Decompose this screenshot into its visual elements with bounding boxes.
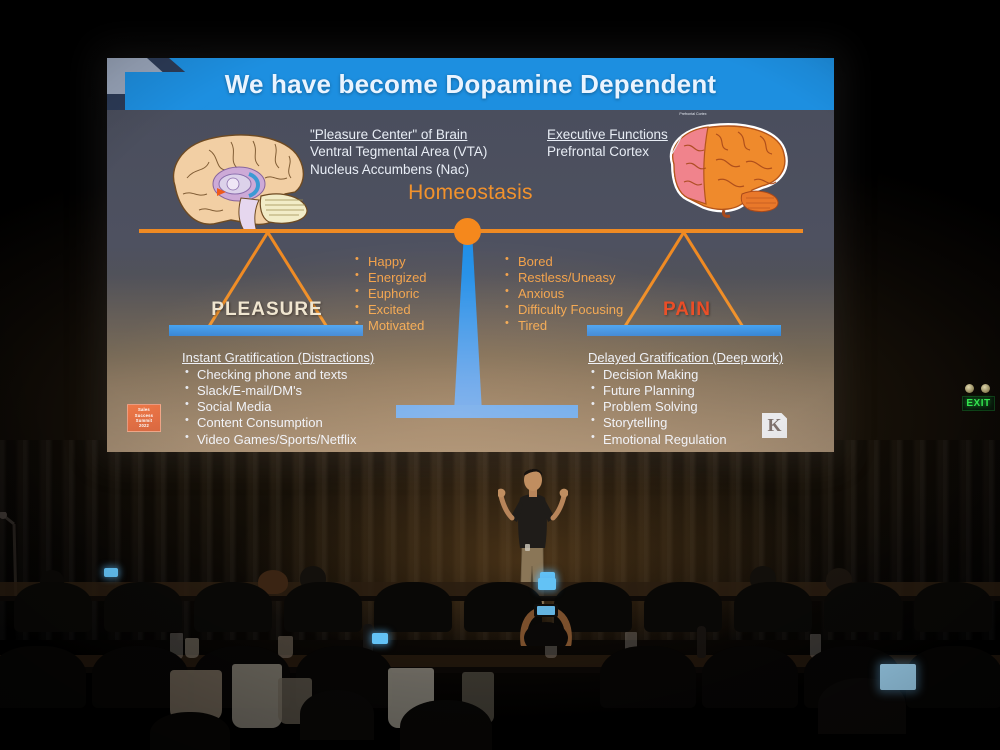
executive-functions-line2: Prefrontal Cortex [547, 144, 649, 159]
drink-pitcher [232, 664, 282, 728]
pleasure-center-heading: "Pleasure Center" of Brain [310, 126, 487, 143]
list-item: Storytelling [588, 415, 783, 431]
k-corner-logo: K [762, 413, 787, 438]
list-item: Bored [505, 254, 623, 270]
audience-chair [644, 582, 722, 632]
list-item: Tired [505, 318, 623, 334]
list-item: Video Games/Sports/Netflix [182, 432, 374, 448]
audience-head [150, 712, 230, 750]
sales-success-summit-logo: Sales Success Summit 2022 [127, 404, 161, 432]
list-item: Content Consumption [182, 415, 374, 431]
audience-member-filming [506, 586, 586, 646]
audience-chair [104, 582, 182, 632]
audience-chair [0, 646, 86, 708]
delayed-gratification-block: Delayed Gratification (Deep work) Decisi… [588, 350, 783, 448]
audience-chair [374, 582, 452, 632]
delayed-gratification-heading: Delayed Gratification (Deep work) [588, 350, 783, 366]
projection-screen: We have become Dopamine Dependent [107, 58, 834, 452]
photo-scene: We have become Dopamine Dependent [0, 0, 1000, 750]
list-item: Anxious [505, 286, 623, 302]
list-item: Problem Solving [588, 399, 783, 415]
pain-feelings-list: Bored Restless/Uneasy Anxious Difficulty… [505, 254, 623, 334]
audience-chair [824, 582, 902, 632]
audience-head [400, 700, 492, 750]
audience-chair [734, 582, 812, 632]
water-bottle [697, 626, 706, 658]
audience-chair [702, 646, 798, 708]
list-item: Decision Making [588, 367, 783, 383]
audience-chair [284, 582, 362, 632]
audience-chair [600, 646, 696, 708]
list-item: Difficulty Focusing [505, 302, 623, 318]
exit-sign: EXIT [962, 396, 995, 411]
executive-functions-label: Executive Functions Prefrontal Cortex [547, 126, 668, 161]
coffee-cup [185, 638, 199, 658]
phone-screen [372, 633, 388, 644]
pleasure-center-line3: Nucleus Accumbens (Nac) [310, 162, 469, 177]
audience-chair [14, 582, 92, 632]
list-item: Euphoric [355, 286, 427, 302]
prefrontal-cortex-callout: Prefrontal Cortex [667, 113, 719, 117]
emergency-lights-icon [962, 384, 995, 394]
balance-base [396, 405, 578, 418]
pleasure-feelings-list: Happy Energized Euphoric Excited Motivat… [355, 254, 427, 334]
list-item: Checking phone and texts [182, 367, 374, 383]
list-item: Motivated [355, 318, 427, 334]
balance-pivot-icon [454, 218, 481, 245]
coffee-cup [278, 636, 293, 658]
pleasure-center-label: "Pleasure Center" of Brain Ventral Tegme… [310, 126, 487, 178]
audience-chair [914, 582, 992, 632]
slide-header-band: We have become Dopamine Dependent [107, 58, 834, 110]
list-item: Slack/E-mail/DM's [182, 383, 374, 399]
pleasure-word: PLEASURE [207, 299, 327, 321]
homeostasis-label: Homeostasis [107, 181, 834, 205]
list-item: Happy [355, 254, 427, 270]
slide-title: We have become Dopamine Dependent [107, 58, 834, 110]
audience-head [300, 690, 374, 740]
instant-gratification-heading: Instant Gratification (Distractions) [182, 350, 374, 366]
list-item: Restless/Uneasy [505, 270, 623, 286]
list-item: Future Planning [588, 383, 783, 399]
laptop-screen [880, 664, 916, 690]
executive-functions-heading: Executive Functions [547, 126, 668, 143]
audience-chair [194, 582, 272, 632]
logo-line-4: 2022 [139, 423, 149, 428]
phone-screen [104, 568, 118, 577]
list-item: Emotional Regulation [588, 432, 783, 448]
pain-word: PAIN [627, 299, 747, 321]
audience-chair [906, 646, 1000, 708]
pleasure-center-line2: Ventral Tegmental Area (VTA) [310, 144, 487, 159]
pleasure-pan [169, 325, 363, 336]
k-logo-letter: K [762, 413, 787, 438]
list-item: Energized [355, 270, 427, 286]
instant-gratification-block: Instant Gratification (Distractions) Che… [182, 350, 374, 448]
list-item: Excited [355, 302, 427, 318]
list-item: Social Media [182, 399, 374, 415]
audience-area [0, 560, 1000, 750]
